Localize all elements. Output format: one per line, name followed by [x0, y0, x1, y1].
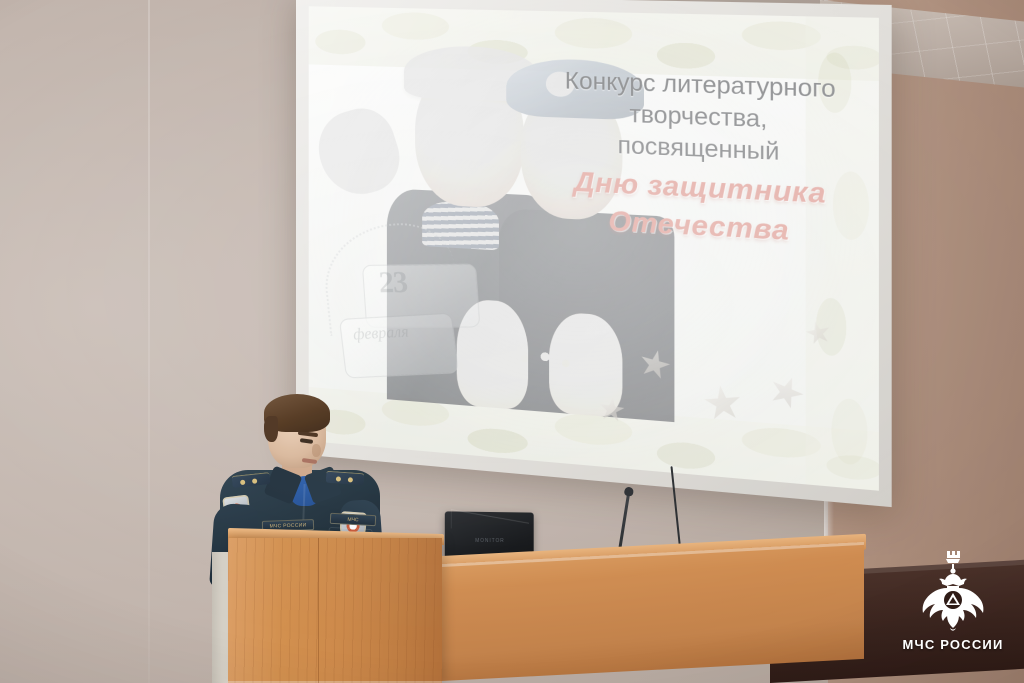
podium-wood-grain [228, 538, 442, 683]
epaulette-right [326, 471, 365, 486]
hair-sideburn [264, 416, 278, 442]
dog-tag-number: 23 [377, 266, 407, 301]
dog-tags-graphic: 23 февраля [324, 220, 508, 409]
photo-hand [309, 100, 409, 203]
epaulette-star [336, 476, 341, 481]
monitor-bevel [450, 509, 528, 541]
presidium-desk [404, 542, 864, 683]
conference-hall-scene: 23 февраля Конкурс литературного творчес… [0, 0, 1024, 683]
nose [312, 444, 321, 457]
star-decoration [701, 384, 743, 422]
epaulette-star [348, 477, 353, 482]
photo-medals [513, 338, 607, 385]
speaker-podium [228, 538, 442, 683]
star-decoration [764, 370, 807, 413]
emercom-logo: МЧС РОССИИ [898, 548, 1008, 666]
slide-text-block: Конкурс литературного творчества, посвящ… [548, 65, 854, 253]
epaulette-star [240, 480, 245, 485]
emercom-logo-text: МЧС РОССИИ [898, 637, 1008, 652]
secondary-name-tape: МЧС [330, 513, 377, 526]
podium-seam [318, 538, 319, 683]
projection-surface: 23 февраля Конкурс литературного творчес… [309, 6, 879, 490]
double-headed-eagle-icon [914, 548, 992, 634]
dog-tag-month: февраля [352, 324, 410, 345]
dog-tag-lower [339, 313, 459, 379]
epaulette-star [252, 478, 257, 483]
monitor-brand-label: MONITOR [475, 538, 504, 544]
